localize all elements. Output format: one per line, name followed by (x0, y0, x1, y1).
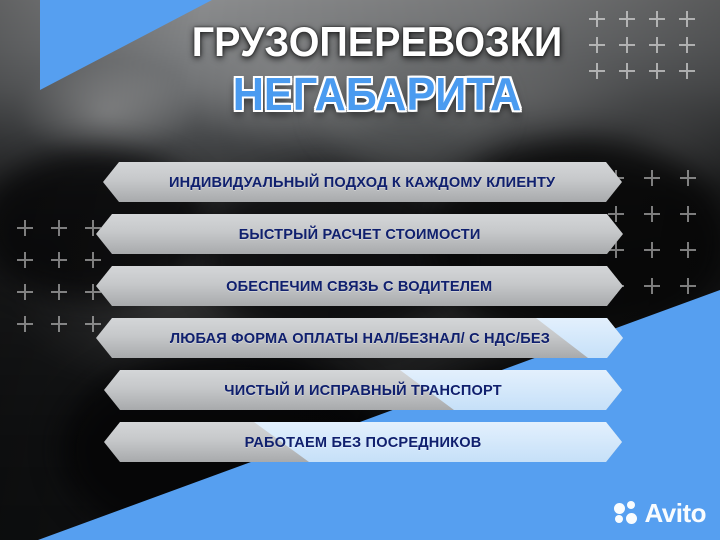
feature-banner-label: РАБОТАЕМ БЕЗ ПОСРЕДНИКОВ (245, 434, 482, 451)
feature-banner: ЛЮБАЯ ФОРМА ОПЛАТЫ НАЛ/БЕЗНАЛ/ С НДС/БЕЗ (96, 318, 623, 358)
headline-primary: ГРУЗОПЕРЕВОЗКИ (55, 18, 700, 66)
feature-banner-label: ЛЮБАЯ ФОРМА ОПЛАТЫ НАЛ/БЕЗНАЛ/ С НДС/БЕЗ (169, 330, 549, 347)
avito-watermark: Avito (614, 500, 706, 526)
feature-banner-label: ИНДИВИДУАЛЬНЫЙ ПОДХОД К КАЖДОМУ КЛИЕНТУ (169, 174, 555, 191)
feature-banner: ОБЕСПЕЧИМ СВЯЗЬ С ВОДИТЕЛЕМ (96, 266, 623, 306)
feature-banner-label: ОБЕСПЕЧИМ СВЯЗЬ С ВОДИТЕЛЕМ (226, 278, 492, 295)
feature-banner: РАБОТАЕМ БЕЗ ПОСРЕДНИКОВ (104, 422, 622, 462)
avito-wordmark: Avito (644, 500, 706, 526)
avito-circles-icon (614, 501, 638, 525)
advertisement-banner: ГРУЗОПЕРЕВОЗКИ НЕГАБАРИТА ИНДИВИДУАЛЬНЫЙ… (0, 0, 720, 540)
feature-banner: ИНДИВИДУАЛЬНЫЙ ПОДХОД К КАЖДОМУ КЛИЕНТУ (103, 162, 622, 202)
feature-banner: БЫСТРЫЙ РАСЧЕТ СТОИМОСТИ (96, 214, 623, 254)
feature-banner-list: ИНДИВИДУАЛЬНЫЙ ПОДХОД К КАЖДОМУ КЛИЕНТУ … (0, 162, 720, 474)
headline-secondary: НЕГАБАРИТА (55, 68, 700, 120)
feature-banner-label: ЧИСТЫЙ И ИСПРАВНЫЙ ТРАНСПОРТ (224, 382, 502, 399)
headline-group: ГРУЗОПЕРЕВОЗКИ НЕГАБАРИТА (0, 18, 720, 120)
feature-banner-label: БЫСТРЫЙ РАСЧЕТ СТОИМОСТИ (239, 226, 481, 243)
feature-banner: ЧИСТЫЙ И ИСПРАВНЫЙ ТРАНСПОРТ (104, 370, 622, 410)
